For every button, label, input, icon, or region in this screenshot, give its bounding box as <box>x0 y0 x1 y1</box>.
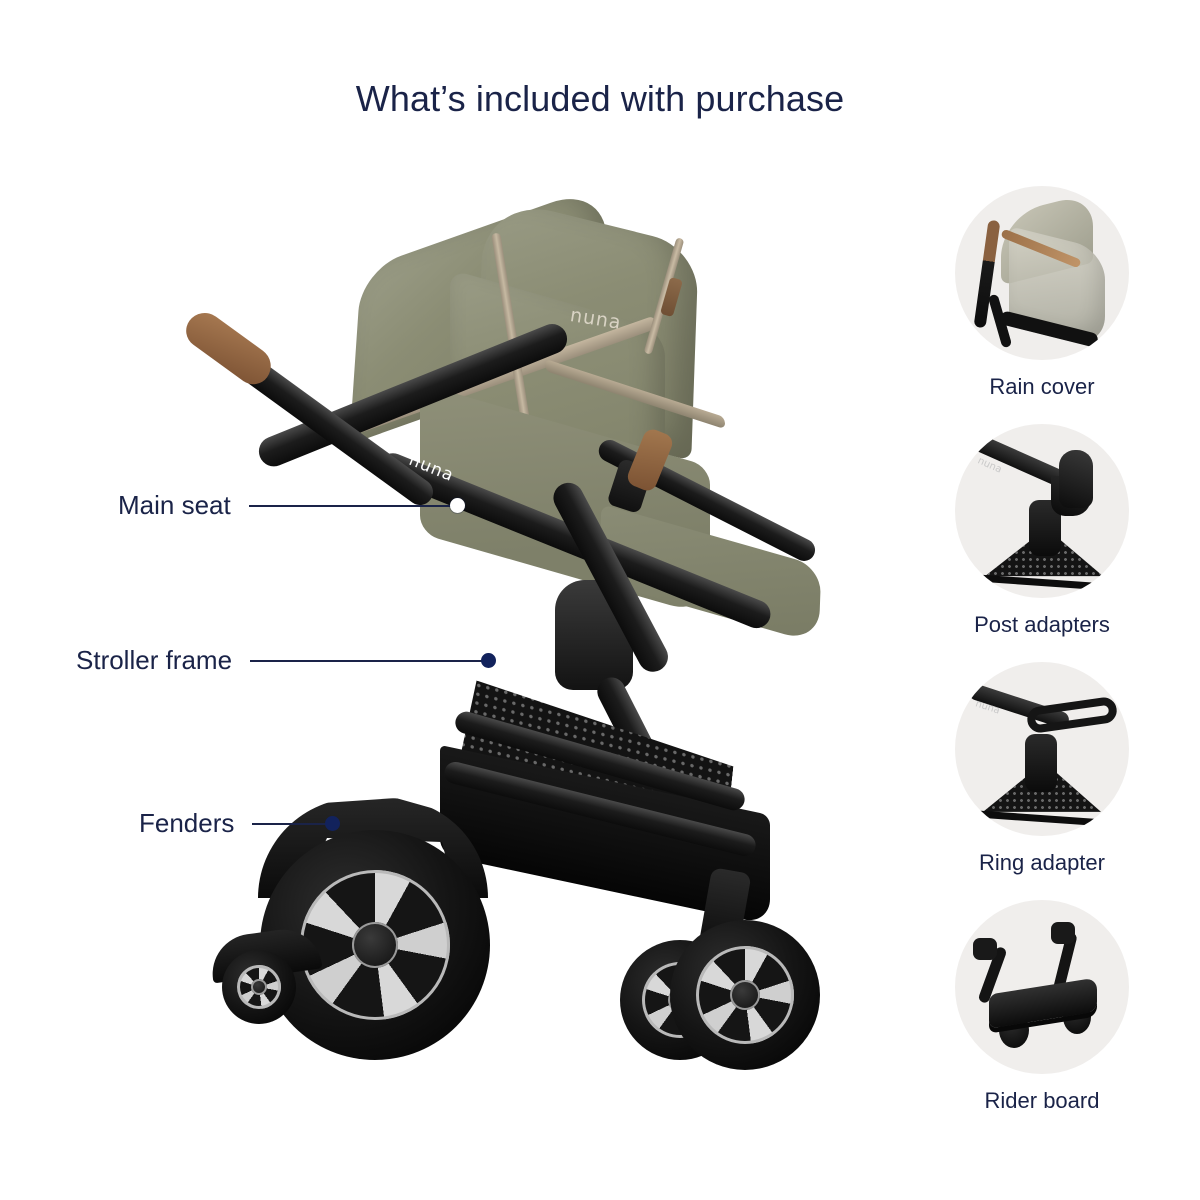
ring-adapter-ring <box>1026 696 1119 734</box>
page-title: What’s included with purchase <box>0 78 1200 120</box>
accessory-list: Rain cover nuna Post adapters nuna <box>922 186 1162 1114</box>
accessory-item-rider-board[interactable]: Rider board <box>922 900 1162 1114</box>
accessory-item-rain-cover[interactable]: Rain cover <box>922 186 1162 400</box>
front-wheel-outer-hub-center <box>730 980 760 1010</box>
accessory-label-ring-adapter: Ring adapter <box>979 850 1105 876</box>
callout-stroller-frame: Stroller frame <box>76 645 496 676</box>
accessory-label-rain-cover: Rain cover <box>989 374 1094 400</box>
ring-adapter-thumbnail[interactable]: nuna <box>955 662 1129 836</box>
stroller-product-image: nuna nuna <box>150 150 890 1090</box>
callout-fenders: Fenders <box>139 808 340 839</box>
post-adapter-cradle <box>1059 450 1093 508</box>
leader-line <box>250 660 482 662</box>
auxiliary-wheel <box>222 950 296 1024</box>
leader-dot-icon <box>450 498 465 513</box>
callout-main-seat-label: Main seat <box>118 490 231 521</box>
handlebar-leather-grip <box>179 305 278 391</box>
rear-wheel-hub-center <box>352 922 398 968</box>
post-adapters-thumbnail[interactable]: nuna <box>955 424 1129 598</box>
rider-board-clamp-right <box>1051 922 1075 944</box>
accessory-item-post-adapters[interactable]: nuna Post adapters <box>922 424 1162 638</box>
leader-line <box>249 505 451 507</box>
leader-dot-icon <box>325 816 340 831</box>
accessory-label-rider-board: Rider board <box>985 1088 1100 1114</box>
accessory-label-post-adapters: Post adapters <box>974 612 1110 638</box>
callout-stroller-frame-label: Stroller frame <box>76 645 232 676</box>
auxiliary-wheel-hub-center <box>251 979 267 995</box>
callout-main-seat: Main seat <box>118 490 465 521</box>
front-wheel-outer <box>670 920 820 1070</box>
callout-fenders-label: Fenders <box>139 808 234 839</box>
infographic-page: What’s included with purchase nuna nuna <box>0 0 1200 1200</box>
leader-line <box>252 823 326 825</box>
ring-adapter-stem <box>1025 734 1057 792</box>
rider-board-clamp-left <box>973 938 997 960</box>
rain-cover-thumbnail[interactable] <box>955 186 1129 360</box>
leader-dot-icon <box>481 653 496 668</box>
rider-board-thumbnail[interactable] <box>955 900 1129 1074</box>
accessory-item-ring-adapter[interactable]: nuna Ring adapter <box>922 662 1162 876</box>
